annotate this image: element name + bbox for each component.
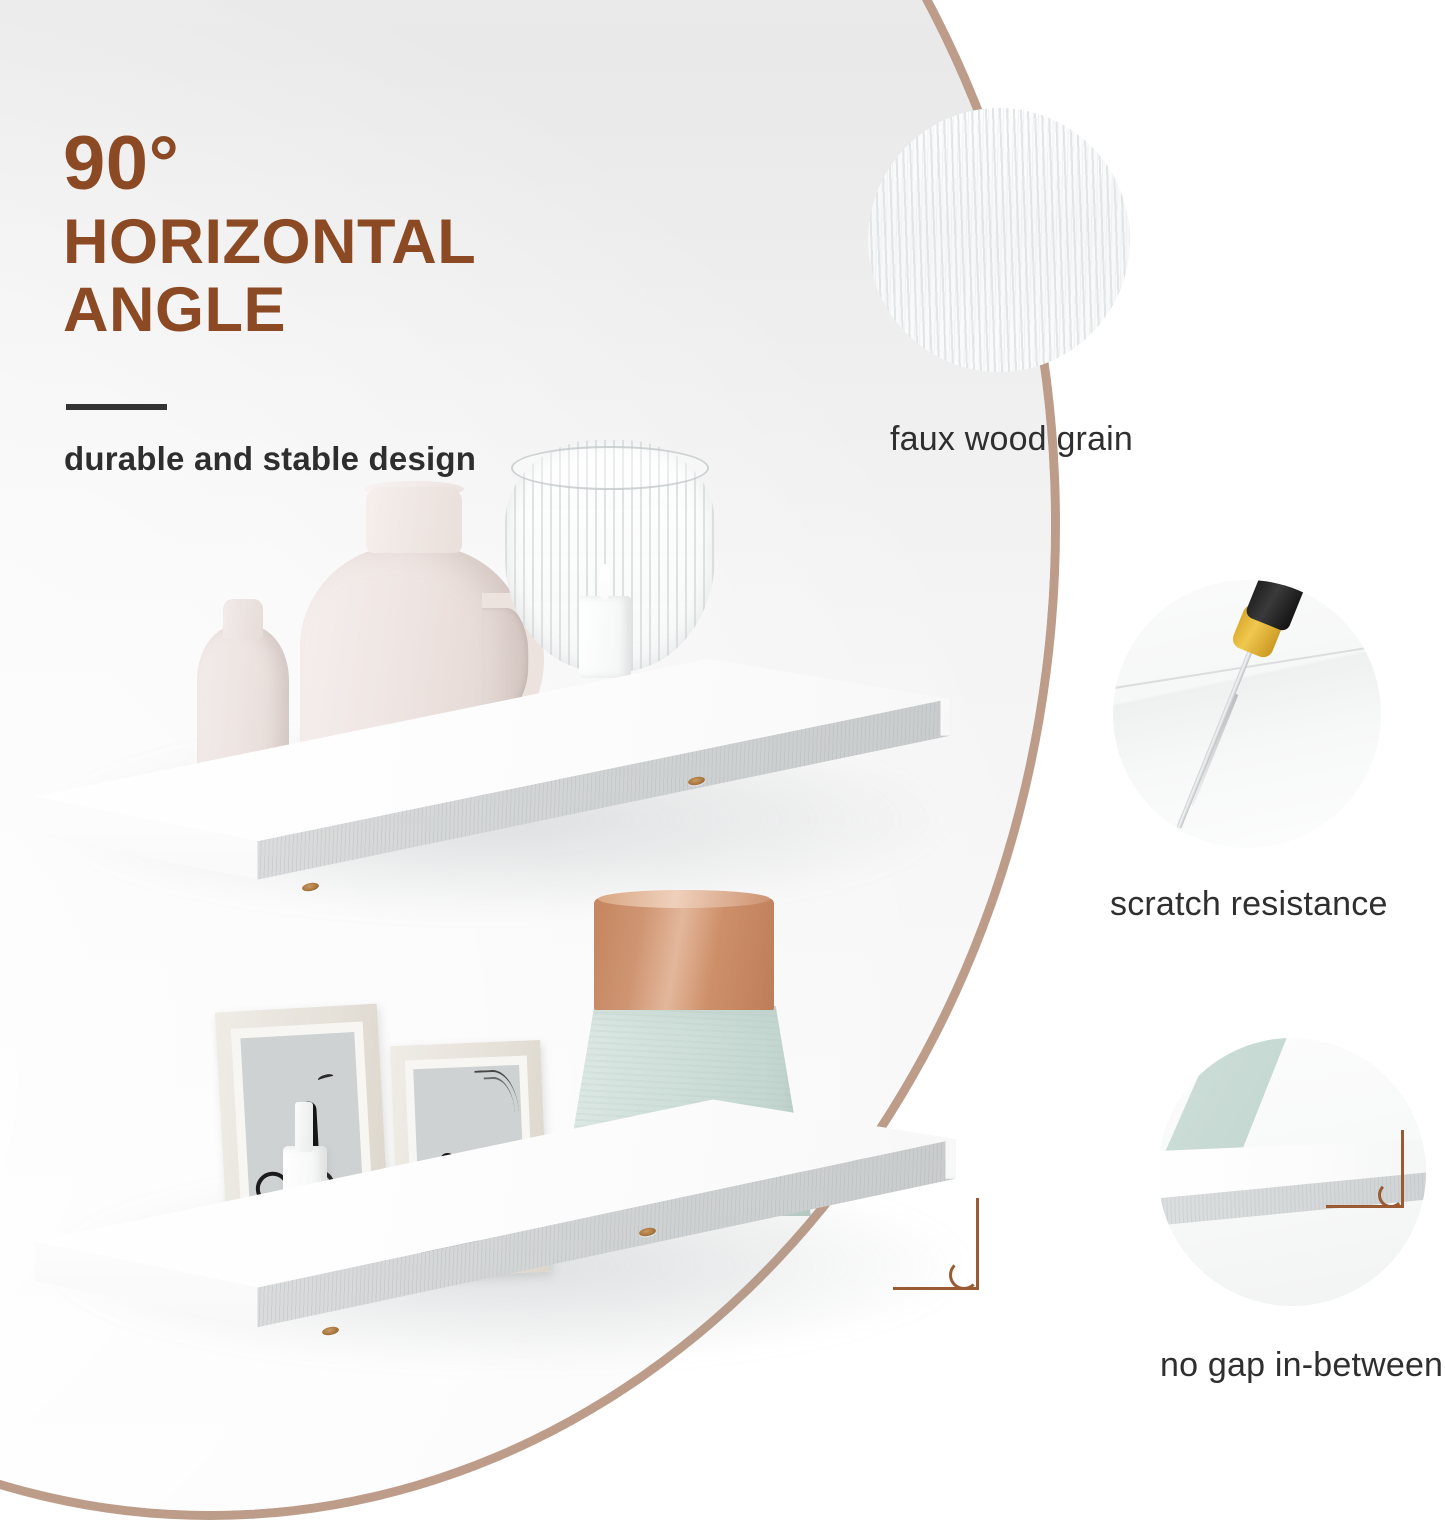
mint-copper-vase-neck — [594, 898, 774, 1010]
candle-wick — [599, 564, 610, 600]
feature-scratch-resistance: scratch resistance — [1113, 580, 1445, 940]
angle-marker-arc — [949, 1260, 979, 1290]
upper-shelf-top-surface — [0, 630, 990, 950]
upper-shelf-screw-left — [301, 881, 319, 892]
upper-shelf — [0, 630, 990, 950]
jug-neck — [366, 487, 462, 553]
feature-no-gap: no gap in-between — [1158, 1038, 1445, 1408]
hurricane-rim — [511, 446, 709, 490]
faux-wood-grain-caption: faux wood grain — [890, 420, 1133, 459]
headline-line-1: 90° — [63, 126, 476, 202]
page-title: 90° HORIZONTAL ANGLE — [63, 126, 476, 344]
no-gap-caption: no gap in-between — [1160, 1346, 1443, 1385]
subtitle: durable and stable design — [64, 440, 476, 478]
lower-shelf — [0, 1050, 990, 1380]
headline-line-3: ANGLE — [63, 276, 476, 344]
scratch-resistance-image — [1113, 580, 1381, 848]
scratch-mark — [1191, 694, 1239, 806]
mint-vase-corner — [1163, 1038, 1286, 1156]
product-feature-graphic: 90° HORIZONTAL ANGLE durable and stable … — [0, 0, 1445, 1500]
no-gap-image — [1158, 1038, 1426, 1306]
mini-angle-arc — [1378, 1182, 1404, 1208]
title-divider — [66, 404, 167, 410]
right-angle-marker — [893, 1198, 979, 1290]
lower-shelf-screw-left — [321, 1326, 339, 1337]
faux-wood-grain-swatch — [868, 108, 1130, 372]
headline-line-2: HORIZONTAL — [63, 208, 476, 276]
screwdriver-shaft — [1176, 637, 1257, 829]
scratch-resistance-caption: scratch resistance — [1110, 885, 1388, 924]
lower-shelf-top-surface — [0, 1050, 990, 1380]
copper-neck-rim — [598, 890, 770, 908]
feature-faux-wood-grain: faux wood grain — [868, 108, 1268, 478]
no-gap-angle-marker — [1326, 1130, 1404, 1208]
